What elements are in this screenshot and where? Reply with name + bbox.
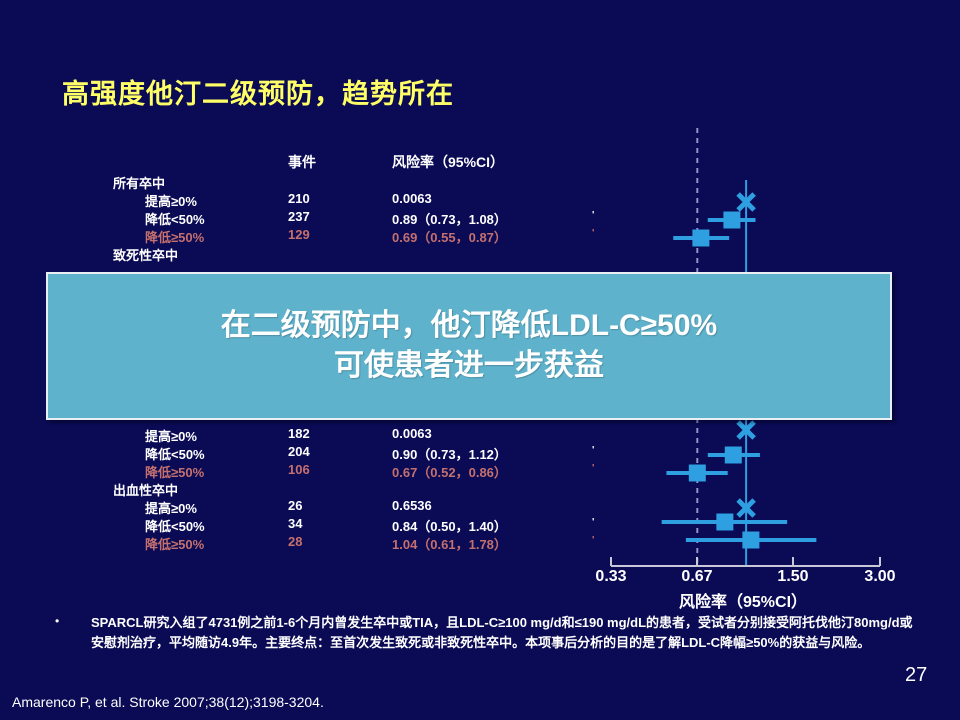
row-tick-mark: '	[592, 535, 594, 546]
table-row: 降低<50%2370.89（0.73，1.08）'	[0, 209, 660, 227]
row-tick-mark: '	[592, 445, 594, 456]
table-row: 提高≥0%1820.0063	[0, 426, 660, 444]
row-label: 降低<50%	[145, 209, 205, 228]
row-events: 237	[288, 209, 310, 224]
table-row: 提高≥0%2100.0063	[0, 191, 660, 209]
row-hazard-ratio: 0.0063	[392, 426, 432, 441]
row-events: 129	[288, 227, 310, 242]
page-number: 27	[905, 664, 927, 687]
row-tick-mark: '	[592, 517, 594, 528]
row-label: 降低≥50%	[145, 462, 204, 481]
table-row: 降低<50%2040.90（0.73，1.12）'	[0, 444, 660, 462]
column-header-events: 事件	[288, 152, 316, 172]
row-hazard-ratio: 1.04（0.61，1.78）	[392, 534, 507, 553]
column-header-hazard-ratio: 风险率（95%CI）	[392, 152, 504, 172]
row-hazard-ratio: 0.69（0.55，0.87）	[392, 227, 507, 246]
row-hazard-ratio: 0.67（0.52，0.86）	[392, 462, 507, 481]
row-label: 提高≥0%	[145, 191, 197, 210]
row-events: 26	[288, 498, 302, 513]
table-row: 降低≥50%281.04（0.61，1.78）'	[0, 534, 660, 552]
row-hazard-ratio: 0.0063	[392, 191, 432, 206]
row-events: 28	[288, 534, 302, 549]
citation: Amarenco P, et al. Stroke 2007;38(12);31…	[12, 694, 324, 710]
table-row: 致死性卒中	[0, 245, 660, 263]
row-label: 提高≥0%	[145, 498, 197, 517]
table-row: 降低≥50%1290.69（0.55，0.87）'	[0, 227, 660, 245]
row-tick-mark: '	[592, 228, 594, 239]
row-hazard-ratio: 0.90（0.73，1.12）	[392, 444, 507, 463]
row-label: 出血性卒中	[113, 480, 178, 499]
slide-canvas: 高强度他汀二级预防，趋势所在 事件 风险率（95%CI） 所有卒中提高≥0%21…	[0, 0, 960, 720]
row-tick-mark: '	[592, 210, 594, 221]
row-events: 210	[288, 191, 310, 206]
footnote: • SPARCL研究入组了4731例之前1-6个月内曾发生卒中或TIA，且LDL…	[55, 613, 925, 653]
callout-line-2: 可使患者进一步获益	[334, 346, 604, 386]
x-axis-tick-label: 0.33	[595, 568, 626, 586]
x-axis-tick-label: 3.00	[864, 568, 895, 586]
row-label: 提高≥0%	[145, 426, 197, 445]
row-hazard-ratio: 0.6536	[392, 498, 432, 513]
footnote-text: SPARCL研究入组了4731例之前1-6个月内曾发生卒中或TIA，且LDL-C…	[91, 613, 925, 653]
footnote-bullet: •	[55, 614, 59, 628]
x-axis-tick-label: 1.50	[777, 568, 808, 586]
callout-box: 在二级预防中，他汀降低LDL-C≥50% 可使患者进一步获益	[46, 272, 892, 420]
row-label: 降低<50%	[145, 516, 205, 535]
table-row: 提高≥0%260.6536	[0, 498, 660, 516]
x-axis-label: 风险率（95%CI）	[679, 588, 807, 612]
table-row: 出血性卒中	[0, 480, 660, 498]
row-tick-mark: '	[592, 463, 594, 474]
row-hazard-ratio: 0.84（0.50，1.40）	[392, 516, 507, 535]
table-row: 所有卒中	[0, 173, 660, 191]
row-events: 182	[288, 426, 310, 441]
row-label: 所有卒中	[113, 173, 165, 192]
callout-line-1: 在二级预防中，他汀降低LDL-C≥50%	[221, 306, 717, 346]
row-label: 降低<50%	[145, 444, 205, 463]
row-events: 204	[288, 444, 310, 459]
row-label: 降低≥50%	[145, 227, 204, 246]
x-axis-tick-label: 0.67	[681, 568, 712, 586]
table-row: 降低<50%340.84（0.50，1.40）'	[0, 516, 660, 534]
table-row: 降低≥50%1060.67（0.52，0.86）'	[0, 462, 660, 480]
row-label: 降低≥50%	[145, 534, 204, 553]
row-label: 致死性卒中	[113, 245, 178, 264]
row-events: 106	[288, 462, 310, 477]
row-events: 34	[288, 516, 302, 531]
row-hazard-ratio: 0.89（0.73，1.08）	[392, 209, 507, 228]
